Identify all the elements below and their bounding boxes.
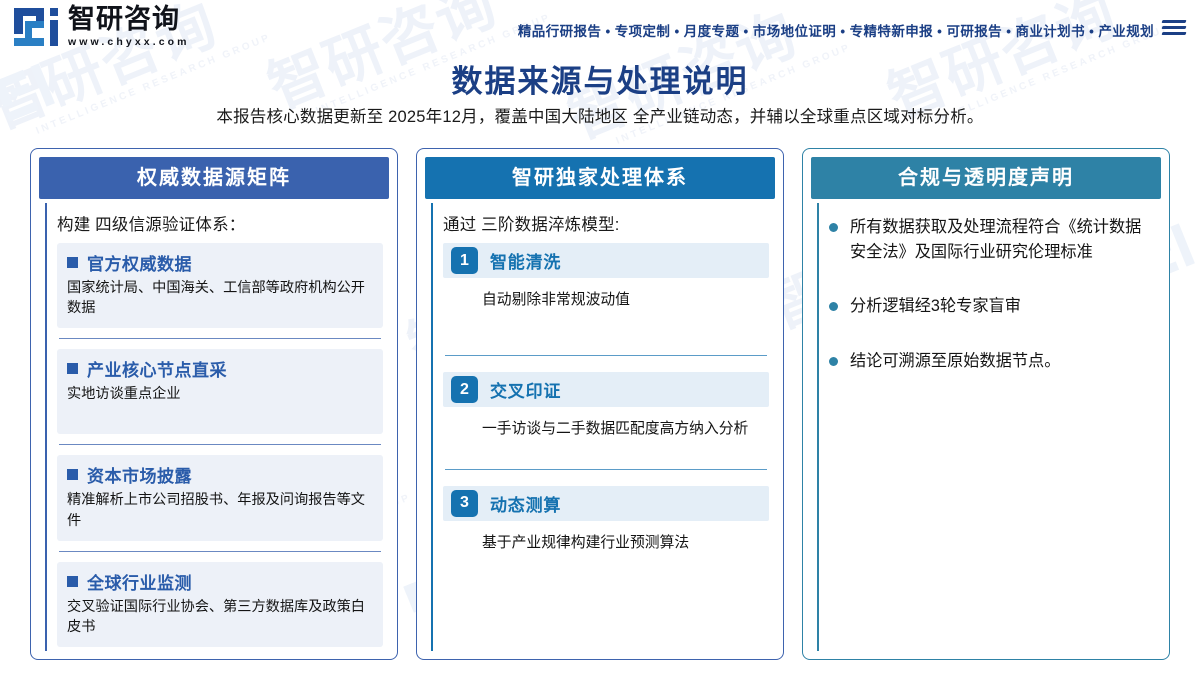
list-item[interactable]: 官方权威数据 国家统计局、中国海关、工信部等政府机构公开数据 bbox=[57, 243, 383, 328]
hamburger-icon[interactable] bbox=[1162, 20, 1188, 36]
header-tagline: 精品行研报告 • 专项定制 • 月度专题 • 市场地位证明 • 专精特新申报 •… bbox=[518, 20, 1154, 40]
divider bbox=[445, 469, 767, 470]
page-header: 智研咨询 www.chyxx.com 精品行研报告 • 专项定制 • 月度专题 … bbox=[0, 0, 1200, 52]
panel-processing-system: 智研独家处理体系 通过 三阶数据淬炼模型: 1 智能清洗 自动剔除非常规波动值 bbox=[416, 148, 784, 660]
logo-wordmark: 智研咨询 bbox=[68, 6, 190, 33]
slide-root: 智研咨询INTELLIGENCE RESEARCH GROUP 智研咨询INTE… bbox=[0, 0, 1200, 675]
item-description: 分析逻辑经3轮专家盲审 bbox=[850, 294, 1021, 319]
item-description: 基于产业规律构建行业预测算法 bbox=[482, 533, 769, 554]
panel-accent-rail bbox=[45, 203, 47, 651]
bullet-dot-icon bbox=[829, 223, 838, 232]
item-title: 资本市场披露 bbox=[87, 462, 192, 487]
panel-lead-text: 通过 三阶数据淬炼模型: bbox=[443, 211, 769, 235]
step-number-badge: 2 bbox=[451, 376, 478, 403]
page-subtitle: 本报告核心数据更新至 2025年12月，覆盖中国大陆地区 全产业链动态，并辅以全… bbox=[0, 103, 1200, 127]
list-item[interactable]: 产业核心节点直采 实地访谈重点企业 bbox=[57, 349, 383, 434]
bullet-square-icon bbox=[67, 469, 78, 480]
panel-lead-text: 构建 四级信源验证体系： bbox=[57, 211, 383, 235]
list-item[interactable]: 结论可溯源至原始数据节点。 bbox=[829, 349, 1155, 374]
panel-row: 权威数据源矩阵 构建 四级信源验证体系： 官方权威数据 国家统计局、中国海关、工… bbox=[30, 148, 1170, 660]
step-number-badge: 3 bbox=[451, 490, 478, 517]
item-title: 全球行业监测 bbox=[87, 569, 192, 594]
list-item[interactable]: 分析逻辑经3轮专家盲审 bbox=[829, 294, 1155, 319]
list-item[interactable]: 2 交叉印证 一手访谈与二手数据匹配度高方纳入分析 bbox=[443, 372, 769, 440]
item-title: 智能清洗 bbox=[490, 248, 561, 273]
item-description: 交叉验证国际行业协会、第三方数据库及政策白皮书 bbox=[67, 597, 373, 637]
bullet-dot-icon bbox=[829, 357, 838, 366]
list-item[interactable]: 1 智能清洗 自动剔除非常规波动值 bbox=[443, 243, 769, 311]
divider bbox=[445, 355, 767, 356]
item-title: 交叉印证 bbox=[490, 377, 561, 402]
brand-logo[interactable]: 智研咨询 www.chyxx.com bbox=[14, 6, 190, 48]
item-description: 结论可溯源至原始数据节点。 bbox=[850, 349, 1060, 374]
bullet-square-icon bbox=[67, 257, 78, 268]
page-title: 数据来源与处理说明 bbox=[0, 56, 1200, 101]
divider bbox=[59, 338, 381, 339]
bullet-square-icon bbox=[67, 576, 78, 587]
logo-url: www.chyxx.com bbox=[68, 37, 190, 48]
panel-accent-rail bbox=[817, 203, 819, 651]
panel-compliance-statement: 合规与透明度声明 所有数据获取及处理流程符合《统计数据安全法》及国际行业研究伦理… bbox=[802, 148, 1170, 660]
list-item[interactable]: 3 动态测算 基于产业规律构建行业预测算法 bbox=[443, 486, 769, 554]
item-title: 产业核心节点直采 bbox=[87, 356, 227, 381]
item-description: 一手访谈与二手数据匹配度高方纳入分析 bbox=[482, 419, 769, 440]
panel-title: 权威数据源矩阵 bbox=[39, 157, 389, 199]
panel-title: 合规与透明度声明 bbox=[811, 157, 1161, 199]
panel-data-sources: 权威数据源矩阵 构建 四级信源验证体系： 官方权威数据 国家统计局、中国海关、工… bbox=[30, 148, 398, 660]
bullet-square-icon bbox=[67, 363, 78, 374]
divider bbox=[59, 551, 381, 552]
item-title: 官方权威数据 bbox=[87, 250, 192, 275]
list-item[interactable]: 全球行业监测 交叉验证国际行业协会、第三方数据库及政策白皮书 bbox=[57, 562, 383, 647]
bullet-dot-icon bbox=[829, 302, 838, 311]
list-item[interactable]: 资本市场披露 精准解析上市公司招股书、年报及问询报告等文件 bbox=[57, 455, 383, 540]
item-description: 精准解析上市公司招股书、年报及问询报告等文件 bbox=[67, 490, 373, 530]
item-description: 自动剔除非常规波动值 bbox=[482, 290, 769, 311]
panel-title: 智研独家处理体系 bbox=[425, 157, 775, 199]
list-item[interactable]: 所有数据获取及处理流程符合《统计数据安全法》及国际行业研究伦理标准 bbox=[829, 215, 1155, 264]
item-title: 动态测算 bbox=[490, 491, 561, 516]
step-number-badge: 1 bbox=[451, 247, 478, 274]
divider bbox=[59, 444, 381, 445]
item-description: 所有数据获取及处理流程符合《统计数据安全法》及国际行业研究伦理标准 bbox=[850, 215, 1155, 264]
logo-icon bbox=[14, 8, 60, 46]
panel-accent-rail bbox=[431, 203, 433, 651]
item-description: 实地访谈重点企业 bbox=[67, 384, 373, 404]
item-description: 国家统计局、中国海关、工信部等政府机构公开数据 bbox=[67, 278, 373, 318]
